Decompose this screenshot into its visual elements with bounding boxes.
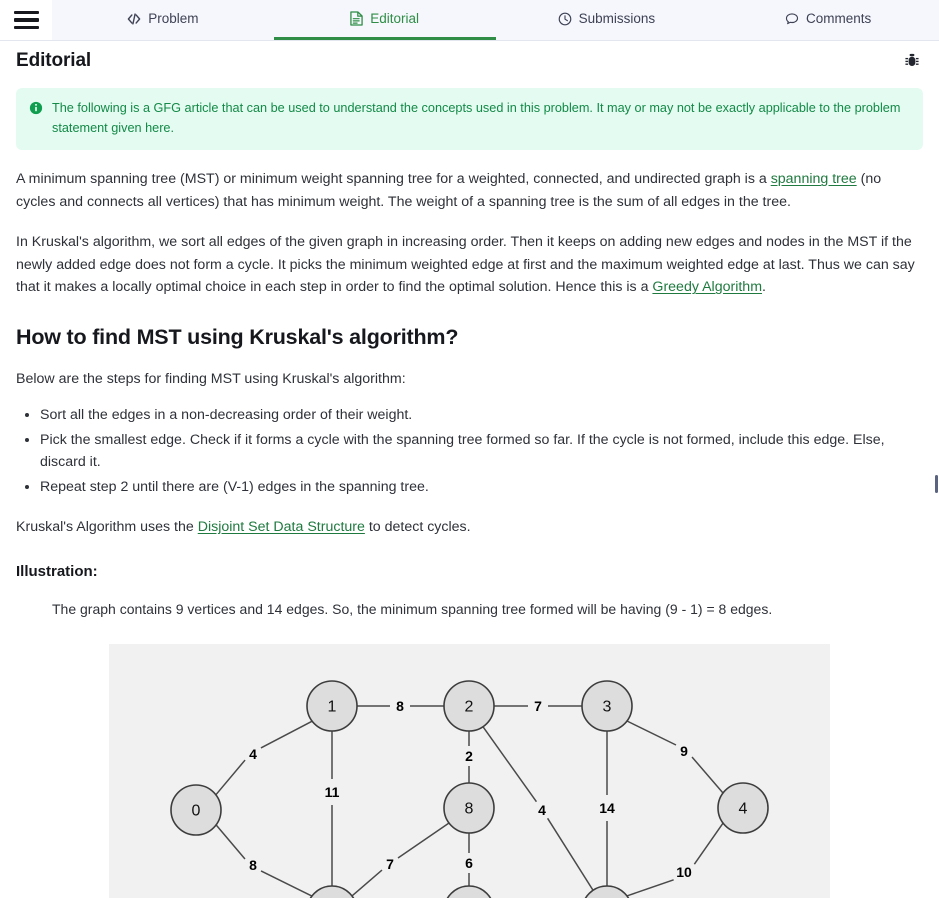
edge-weight-label: 6: [465, 855, 473, 871]
edge-line: [352, 870, 382, 896]
edge-line: [261, 871, 312, 896]
graph-svg: 48811724914102167012345678: [109, 644, 830, 898]
edge-weight-label: 2: [465, 748, 473, 764]
intro-paragraph-2: In Kruskal's algorithm, we sort all edge…: [16, 231, 923, 298]
graph-node: 1: [307, 681, 357, 731]
node-circle: [307, 886, 357, 898]
paragraph-text: In Kruskal's algorithm, we sort all edge…: [16, 234, 915, 295]
illustration-heading: Illustration:: [16, 563, 923, 580]
graph-edge: 11: [325, 731, 340, 886]
edge-line: [483, 727, 536, 802]
edge-weight-label: 11: [325, 784, 340, 800]
steps-list: Sort all the edges in a non-decreasing o…: [16, 404, 923, 498]
info-banner: The following is a GFG article that can …: [16, 88, 923, 150]
paragraph-text: A minimum spanning tree (MST) or minimum…: [16, 171, 771, 187]
node-label: 2: [465, 699, 474, 716]
disjoint-set-link[interactable]: Disjoint Set Data Structure: [198, 519, 365, 535]
section-heading: How to find MST using Kruskal's algorith…: [16, 325, 923, 350]
graph-edge: 10: [627, 823, 723, 896]
scrollbar-thumb[interactable]: [935, 475, 938, 493]
bug-icon[interactable]: [901, 50, 923, 72]
steps-intro: Below are the steps for finding MST usin…: [16, 368, 923, 390]
graph-figure: 48811724914102167012345678: [109, 644, 830, 898]
graph-edge: 2: [465, 731, 473, 783]
code-icon: [127, 12, 141, 26]
graph-edge: 14: [599, 731, 615, 886]
info-icon: [29, 101, 44, 115]
graph-node: 6: [444, 886, 494, 898]
paragraph-text: to detect cycles.: [365, 519, 471, 535]
graph-node: 3: [582, 681, 632, 731]
graph-edge: 8: [216, 825, 312, 896]
graph-node: 2: [444, 681, 494, 731]
document-icon: [350, 11, 363, 26]
graph-edge: 7: [494, 698, 582, 714]
node-label: 3: [603, 699, 612, 716]
tab-label: Problem: [148, 11, 198, 26]
edge-weight-label: 4: [538, 802, 546, 818]
top-tab-bar: Problem Editorial Submissions: [0, 0, 939, 41]
edge-line: [627, 880, 674, 896]
graph-node: 7: [307, 886, 357, 898]
hamburger-bar: [14, 26, 39, 30]
edge-line: [692, 757, 723, 793]
paragraph-text: .: [762, 279, 766, 295]
edge-weight-label: 8: [249, 857, 257, 873]
node-circle: [444, 886, 494, 898]
hamburger-bar: [14, 18, 39, 22]
graph-node: 5: [582, 886, 632, 898]
edge-weight-label: 8: [396, 698, 404, 714]
graph-node: 8: [444, 783, 494, 833]
edge-weight-label: 7: [534, 698, 542, 714]
paragraph-text: Kruskal's Algorithm uses the: [16, 519, 198, 535]
greedy-algorithm-link[interactable]: Greedy Algorithm: [652, 279, 762, 295]
node-label: 0: [192, 803, 201, 820]
edge-line: [261, 721, 312, 748]
node-label: 4: [739, 801, 748, 818]
tab-editorial[interactable]: Editorial: [274, 0, 496, 40]
edge-line: [627, 721, 676, 745]
clock-icon: [558, 12, 572, 26]
edge-weight-label: 9: [680, 743, 688, 759]
graph-edge: 4: [216, 721, 312, 795]
editorial-page: Editorial: [0, 41, 939, 898]
tab-submissions[interactable]: Submissions: [496, 0, 718, 40]
graph-edge: 4: [483, 727, 593, 891]
edge-line: [216, 825, 245, 859]
edge-weight-label: 4: [249, 746, 257, 762]
edge-weight-label: 14: [599, 800, 615, 816]
hamburger-bar: [14, 11, 39, 15]
info-banner-text: The following is a GFG article that can …: [52, 99, 909, 138]
tab-label: Comments: [806, 11, 871, 26]
node-label: 1: [328, 699, 337, 716]
page-header: Editorial: [16, 41, 923, 72]
spanning-tree-link[interactable]: spanning tree: [771, 171, 857, 187]
graph-edge: 7: [352, 823, 449, 896]
edge-weight-label: 10: [676, 864, 692, 880]
list-item: Sort all the edges in a non-decreasing o…: [40, 404, 923, 426]
graph-edge: 6: [465, 833, 473, 886]
page-title: Editorial: [16, 50, 91, 72]
edge-line: [548, 818, 593, 890]
tab-problem[interactable]: Problem: [52, 0, 274, 40]
hamburger-menu-icon[interactable]: [0, 0, 52, 40]
list-item: Pick the smallest edge. Check if it form…: [40, 429, 923, 474]
node-circle: [582, 886, 632, 898]
disjoint-set-paragraph: Kruskal's Algorithm uses the Disjoint Se…: [16, 516, 923, 538]
comment-icon: [785, 12, 799, 26]
tab-label: Editorial: [370, 11, 419, 26]
tab-list: Problem Editorial Submissions: [52, 0, 939, 40]
list-item: Repeat step 2 until there are (V-1) edge…: [40, 476, 923, 498]
graph-node: 4: [718, 783, 768, 833]
edge-line: [398, 823, 449, 858]
graph-edge: 8: [357, 698, 444, 714]
edge-line: [694, 823, 723, 864]
node-label: 8: [465, 801, 474, 818]
tab-comments[interactable]: Comments: [717, 0, 939, 40]
tab-label: Submissions: [579, 11, 656, 26]
edge-weight-label: 7: [386, 856, 394, 872]
intro-paragraph-1: A minimum spanning tree (MST) or minimum…: [16, 168, 923, 213]
graph-node: 0: [171, 785, 221, 835]
edge-line: [216, 760, 245, 795]
illustration-text: The graph contains 9 vertices and 14 edg…: [52, 599, 923, 621]
graph-edge: 9: [627, 721, 723, 793]
